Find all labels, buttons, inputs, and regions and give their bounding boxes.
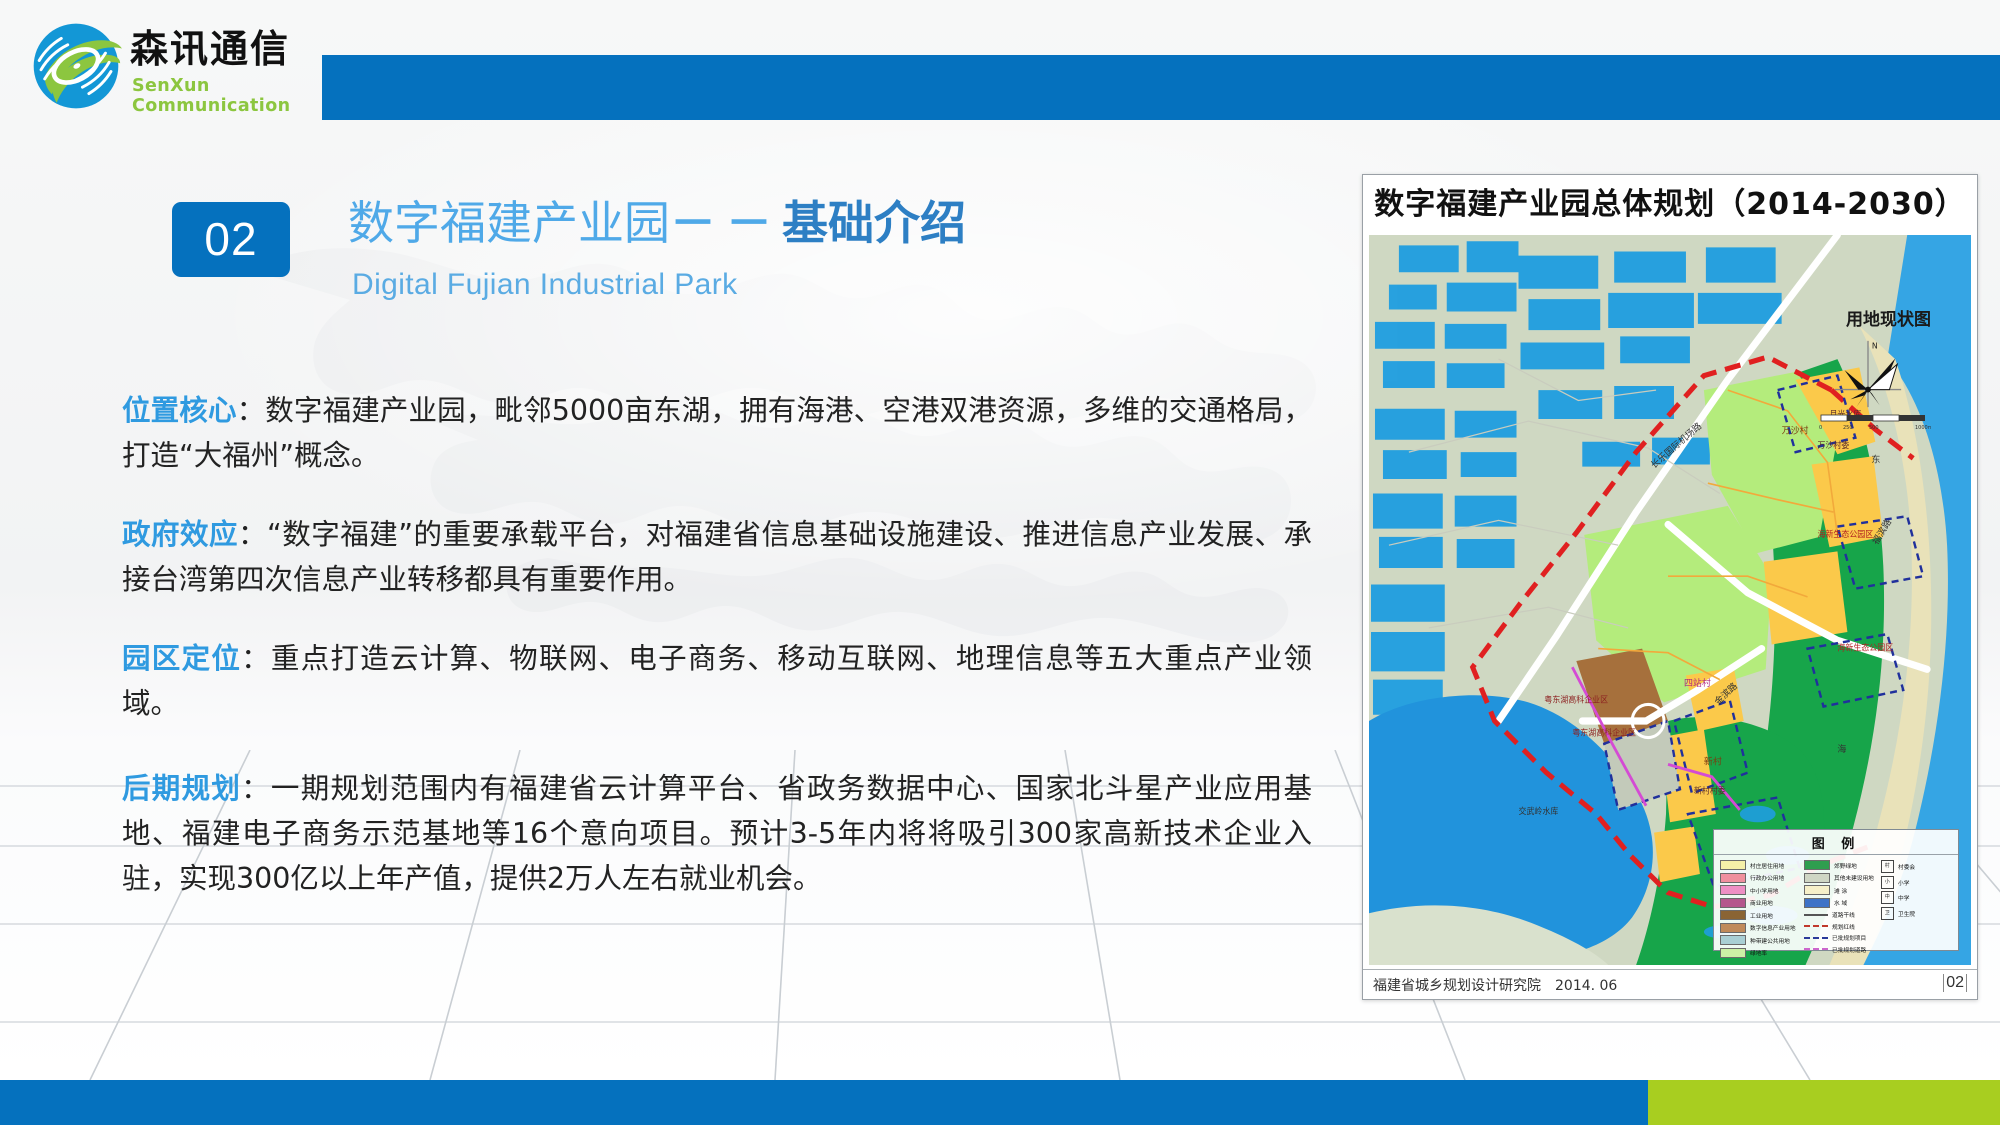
legend-label: 中学 <box>1898 893 1909 901</box>
compass-north-icon: N <box>1829 335 1907 413</box>
legend-label: 已批规划项目 <box>1832 933 1866 941</box>
legend-item: 已批规划项目 <box>1804 933 1877 942</box>
legend-item: 规划红线 <box>1804 922 1877 931</box>
legend-label: 规划红线 <box>1832 922 1855 930</box>
map-title: 数字福建产业园总体规划（2014-2030） <box>1363 175 1977 235</box>
primary-school-icon: 小 <box>1881 876 1894 889</box>
svg-text:海新生态公园区: 海新生态公园区 <box>1837 643 1893 653</box>
legend-swatch <box>1804 885 1830 895</box>
paragraph-text: ：“数字福建”的重要承载平台，对福建省信息基础设施建设、推进信息产业发展、承接台… <box>122 518 1312 596</box>
legend-swatch <box>1720 923 1746 933</box>
svg-text:粤东湖高科企业区: 粤东湖高科企业区 <box>1572 727 1636 737</box>
hospital-icon: 卫 <box>1881 907 1894 920</box>
legend-label: 商业用地 <box>1750 898 1773 906</box>
section-number: 02 <box>172 202 290 277</box>
legend-swatch <box>1720 948 1746 958</box>
legend-swatch <box>1720 885 1746 895</box>
page-subtitle-en: Digital Fujian Industrial Park <box>352 268 738 302</box>
map-image[interactable]: 月光水库 万沙村委 万沙村 四站村 新村 新村村委 交武岭水库 粤东湖高科企业区… <box>1369 235 1971 965</box>
legend-label: 卫生院 <box>1898 909 1915 917</box>
legend-label: 水 域 <box>1834 898 1847 906</box>
legend-column-1: 村庄居住用地 行政办公用地 中小学用地 商业用地 工业用地 数字信息产业用地 种… <box>1720 860 1800 958</box>
legend-label: 小学 <box>1898 878 1909 886</box>
paragraph-lead: 位置核心 <box>122 394 237 427</box>
legend-title: 图 例 <box>1714 830 1958 855</box>
legend-swatch <box>1720 898 1746 908</box>
legend-item: 小小学 <box>1881 876 1953 889</box>
legend-item: 中中学 <box>1881 891 1953 904</box>
brand-name-cn: 森讯通信 <box>130 30 290 68</box>
page-title: 数字福建产业园－－基础介绍 <box>348 200 966 246</box>
legend-item: 行政办公用地 <box>1720 873 1800 883</box>
legend-line-dashed-red <box>1804 925 1828 927</box>
legend-column-3: 村村委会 小小学 中中学 卫卫生院 <box>1881 860 1953 958</box>
page-title-dash: －－ <box>670 196 782 250</box>
paragraph-lead: 园区定位 <box>122 642 241 675</box>
paragraph-location: 位置核心：数字福建产业园，毗邻5000亩东湖，拥有海港、空港双港资源，多维的交通… <box>122 388 1312 478</box>
middle-school-icon: 中 <box>1881 891 1894 904</box>
legend-item: 商业用地 <box>1720 898 1800 908</box>
paragraph-text: ：数字福建产业园，毗邻5000亩东湖，拥有海港、空港双港资源，多维的交通格局，打… <box>122 394 1312 472</box>
legend-item: 数字信息产业用地 <box>1720 923 1800 933</box>
svg-text:1000m: 1000m <box>1915 425 1931 431</box>
legend-label: 村委会 <box>1898 862 1915 870</box>
globe-swoosh-logo-icon <box>30 20 122 112</box>
legend-item: 村庄居住用地 <box>1720 860 1800 870</box>
legend-item: 绿地率 <box>1720 948 1800 958</box>
svg-text:海新生态公园区: 海新生态公园区 <box>1818 529 1874 539</box>
map-footer: 福建省城乡规划设计研究院 2014. 06 02 <box>1363 969 1977 999</box>
svg-text:海: 海 <box>1837 743 1846 755</box>
header-bar <box>322 55 2000 120</box>
paragraph-government: 政府效应：“数字福建”的重要承载平台，对福建省信息基础设施建设、推进信息产业发展… <box>122 512 1312 602</box>
legend-label: 道路干线 <box>1832 910 1855 918</box>
legend-item: 滩 涂 <box>1804 885 1877 895</box>
legend-item: 种带建公共用地 <box>1720 935 1800 945</box>
legend-swatch <box>1804 898 1830 908</box>
map-page-mark: 02 <box>1943 974 1967 992</box>
svg-text:N: N <box>1872 342 1878 351</box>
legend-item: 已批规划道路 <box>1804 945 1877 954</box>
legend-swatch <box>1804 860 1830 870</box>
svg-text:粤东湖高科企业区: 粤东湖高科企业区 <box>1544 694 1608 704</box>
legend-label: 工业用地 <box>1750 911 1773 919</box>
svg-text:四站村: 四站村 <box>1684 677 1711 689</box>
page-title-sub: 基础介绍 <box>782 196 966 250</box>
legend-item: 中小学用地 <box>1720 885 1800 895</box>
map-status-label: 用地现状图 <box>1846 305 1931 330</box>
svg-text:东: 东 <box>1871 453 1880 465</box>
svg-text:万沙村: 万沙村 <box>1782 424 1809 436</box>
footer-accent-bar <box>1648 1080 2000 1125</box>
legend-label: 郊野绿地 <box>1834 861 1857 869</box>
svg-text:500: 500 <box>1869 425 1879 431</box>
svg-text:新村: 新村 <box>1704 755 1722 767</box>
legend-item: 道路干线 <box>1804 910 1877 919</box>
legend-item: 村村委会 <box>1881 860 1953 873</box>
legend-item: 工业用地 <box>1720 910 1800 920</box>
legend-column-2: 郊野绿地 其他未建设用地 滩 涂 水 域 道路干线 规划红线 已批规划项目 已批… <box>1804 860 1877 958</box>
svg-text:新村村委: 新村村委 <box>1694 785 1726 795</box>
brand-logo: 森讯通信 SenXun Communication <box>22 12 322 112</box>
legend-swatch <box>1804 873 1830 883</box>
legend-line-dashed-blue <box>1804 937 1828 939</box>
paragraph-text: ：一期规划范围内有福建省云计算平台、省政务数据中心、国家北斗星产业应用基地、福建… <box>122 772 1312 895</box>
legend-swatch <box>1720 935 1746 945</box>
map-panel[interactable]: 数字福建产业园总体规划（2014-2030） <box>1362 174 1978 1000</box>
map-source: 福建省城乡规划设计研究院 2014. 06 <box>1373 975 1617 995</box>
paragraph-lead: 后期规划 <box>122 772 241 805</box>
svg-text:250: 250 <box>1843 425 1853 431</box>
legend-swatch <box>1720 910 1746 920</box>
legend-label: 村庄居住用地 <box>1750 861 1784 869</box>
legend-label: 绿地率 <box>1750 948 1767 956</box>
legend-item: 水 域 <box>1804 898 1877 908</box>
map-legend: 图 例 村庄居住用地 行政办公用地 中小学用地 商业用地 工业用地 数字信息产业… <box>1713 829 1959 951</box>
svg-text:万沙村委: 万沙村委 <box>1818 440 1850 450</box>
village-committee-icon: 村 <box>1881 860 1894 873</box>
slide-canvas: 森讯通信 SenXun Communication 02 数字福建产业园－－基础… <box>0 0 2000 1125</box>
body-copy: 位置核心：数字福建产业园，毗邻5000亩东湖，拥有海港、空港双港资源，多维的交通… <box>122 388 1312 935</box>
legend-item: 其他未建设用地 <box>1804 873 1877 883</box>
legend-item: 郊野绿地 <box>1804 860 1877 870</box>
legend-label: 种带建公共用地 <box>1750 936 1790 944</box>
legend-line-solid <box>1804 914 1828 916</box>
svg-text:交武岭水库: 交武岭水库 <box>1519 806 1559 816</box>
brand-name-en: SenXun Communication <box>132 76 322 116</box>
scale-bar-icon: 02505001000m <box>1819 411 1931 433</box>
legend-label: 数字信息产业用地 <box>1750 923 1796 931</box>
section-number-badge: 02 <box>172 202 290 277</box>
paragraph-positioning: 园区定位：重点打造云计算、物联网、电子商务、移动互联网、地理信息等五大重点产业领… <box>122 636 1312 726</box>
page-title-main: 数字福建产业园 <box>348 196 670 250</box>
paragraph-future-plan: 后期规划：一期规划范围内有福建省云计算平台、省政务数据中心、国家北斗星产业应用基… <box>122 766 1312 901</box>
legend-line-dashed-magenta <box>1804 948 1828 950</box>
legend-swatch <box>1720 873 1746 883</box>
legend-label: 滩 涂 <box>1834 886 1847 894</box>
paragraph-text: ：重点打造云计算、物联网、电子商务、移动互联网、地理信息等五大重点产业领域。 <box>122 642 1312 720</box>
legend-label: 中小学用地 <box>1750 886 1778 894</box>
legend-label: 行政办公用地 <box>1750 873 1784 881</box>
legend-label: 其他未建设用地 <box>1834 873 1874 881</box>
legend-item: 卫卫生院 <box>1881 907 1953 920</box>
legend-swatch <box>1720 860 1746 870</box>
svg-text:0: 0 <box>1819 425 1822 431</box>
paragraph-lead: 政府效应 <box>122 518 238 551</box>
legend-label: 已批规划道路 <box>1832 945 1866 953</box>
